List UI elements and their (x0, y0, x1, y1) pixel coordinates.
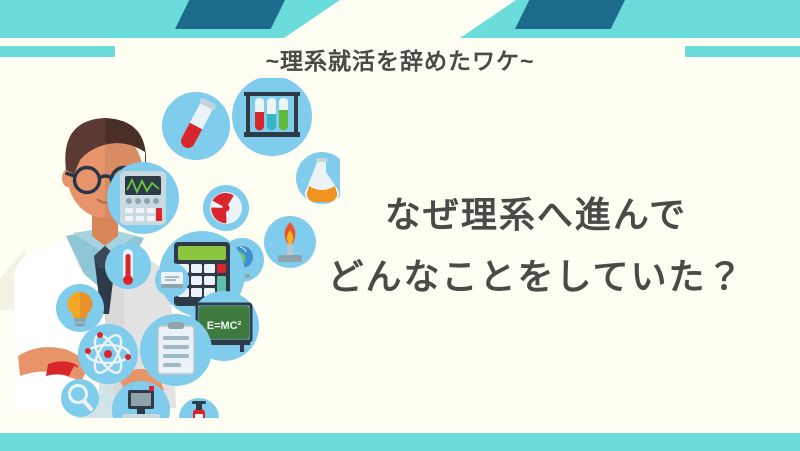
top-left-light-shape (0, 0, 340, 38)
top-right-light-shape (460, 0, 800, 38)
bottom-accent-band (0, 433, 800, 451)
top-left-dark-shape (175, 0, 285, 29)
slide-canvas: ~理系就活を辞めたワケ~ なぜ理系へ進んで どんなことをしていた？ (0, 0, 800, 451)
headline-line-1: なぜ理系へ進んで (286, 184, 786, 246)
top-right-dark-shape (515, 0, 625, 29)
headline-line-2: どんなことをしていた？ (286, 246, 786, 308)
slide-headline: なぜ理系へ進んで どんなことをしていた？ (286, 184, 786, 308)
slide-subtitle: ~理系就活を辞めたワケ~ (0, 42, 800, 76)
svg-text:E=MC²: E=MC² (207, 320, 242, 332)
scientist-illustration: E=MC² (0, 78, 340, 418)
